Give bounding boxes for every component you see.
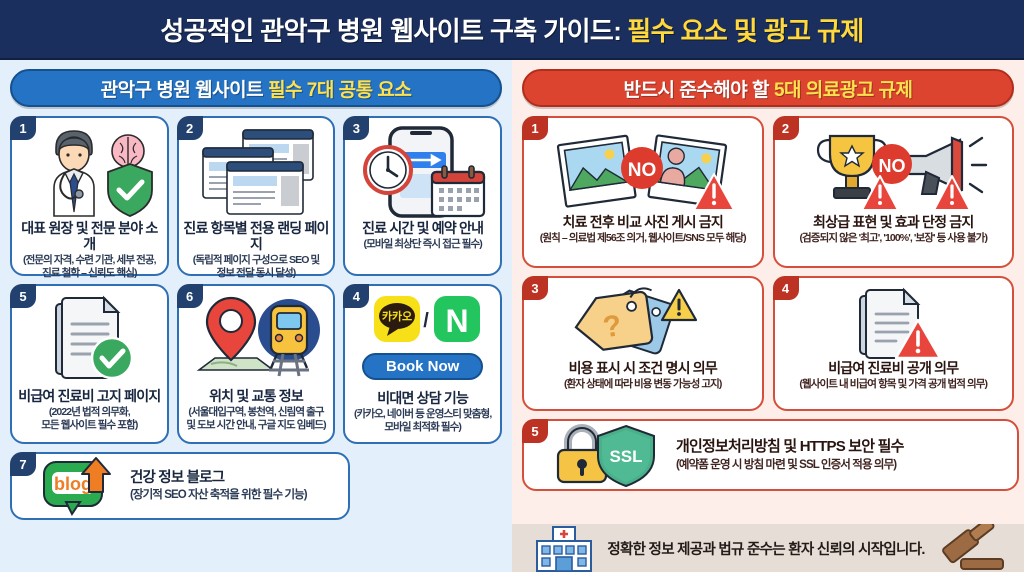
no-badge-label: NO — [628, 160, 657, 181]
ssl-label: SSL — [609, 447, 642, 466]
stacked-browser-windows-icon — [179, 126, 334, 218]
left-card-1-sub: (전문의 자격, 수련 기관, 세부 전공, 진료 철학 – 신뢰도 핵심) — [16, 254, 163, 280]
left-card-4[interactable]: 4 카카오 / N Book Now — [343, 284, 502, 444]
left-card-3-text: 진료 시간 및 예약 안내 (모바일 최상단 즉시 접근 필수) — [358, 220, 487, 257]
right-card-4-text: 비급여 진료비 공개 의무 (웹사이트 내 비급여 항목 및 가격 공개 법적 … — [795, 360, 991, 397]
left-card-2-sub: (독립적 페이지 구성으로 SEO 및 정보 전달 동시 달성) — [183, 254, 330, 280]
left-card-7[interactable]: 7 blog 건강 정보 블로그 (장기적 SEO 자산 축적을 위한 필수 기… — [10, 452, 350, 520]
right-card-3-text: 비용 표시 시 조건 명시 의무 (환자 상태에 따라 비용 변동 가능성 고지… — [560, 360, 725, 397]
right-card-2-sub: (검증되지 않은 '최고', '100%', '보장' 등 사용 불가) — [799, 232, 987, 245]
left-card-1-number: 1 — [10, 116, 36, 140]
content-columns: 관악구 병원 웹사이트 필수 7대 공통 요소 1 — [0, 60, 1024, 572]
price-tag-question-warning-icon: ? — [524, 288, 762, 360]
left-card-5-number: 5 — [10, 284, 36, 308]
doctor-brain-shield-icon — [12, 126, 167, 218]
hospital-building-icon — [529, 525, 597, 571]
right-card-1[interactable]: 1 — [522, 116, 764, 268]
left-card-3-sub: (모바일 최상단 즉시 접근 필수) — [362, 238, 483, 251]
padlock-ssl-shield-icon: SSL — [552, 424, 662, 486]
left-header-white-text: 관악구 병원 웹사이트 — [101, 75, 263, 102]
right-card-5-text: 개인정보처리방침 및 HTTPS 보안 필수 (예약폼 운영 시 방침 마련 및… — [676, 438, 904, 471]
right-card-row-1: 1 — [522, 116, 1014, 268]
page-title-main: 성공적인 관악구 병원 웹사이트 구축 가이드: — [160, 11, 621, 48]
phone-clock-calendar-icon — [345, 126, 500, 218]
left-card-1-text: 대표 원장 및 전문 분야 소개 (전문의 자격, 수련 기관, 세부 전공, … — [12, 220, 167, 286]
gavel-icon — [935, 525, 1007, 571]
blog-label: blog — [54, 474, 92, 494]
right-card-1-title: 치료 전후 비교 사진 게시 금지 — [540, 214, 746, 230]
right-card-1-sub: (원칙 – 의료법 제56조 의거, 웹사이트/SNS 모두 해당) — [540, 232, 746, 245]
svg-text:/: / — [423, 310, 429, 332]
left-header-yellow-text: 필수 7대 공통 요소 — [268, 75, 411, 102]
left-card-3-title: 진료 시간 및 예약 안내 — [362, 220, 483, 236]
left-card-2-title: 진료 항목별 전용 랜딩 페이지 — [183, 220, 330, 252]
right-card-2-text: 최상급 표현 및 효과 단정 금지 (검증되지 않은 '최고', '100%',… — [795, 214, 991, 251]
right-card-4-title: 비급여 진료비 공개 의무 — [799, 360, 987, 376]
blog-speech-bubble-arrow-icon: blog — [42, 456, 118, 516]
footer-text: 정확한 정보 제공과 법규 준수는 환자 신뢰의 시작입니다. — [607, 538, 924, 559]
left-card-4-sub: (카카오, 네이버 등 운영스티 맞춤형, 모바일 최적화 필수) — [354, 408, 491, 434]
left-card-3-number: 3 — [343, 116, 369, 140]
document-warning-icon — [775, 288, 1013, 360]
left-card-2-text: 진료 항목별 전용 랜딩 페이지 (독립적 페이지 구성으로 SEO 및 정보 … — [179, 220, 334, 286]
left-card-5-sub: (2022년 법적 의무화, 모든 웹사이트 필수 포함) — [18, 406, 160, 432]
left-card-1-title: 대표 원장 및 전문 분야 소개 — [16, 220, 163, 252]
right-card-5-sub: (예약폼 운영 시 방침 마련 및 SSL 인증서 적용 의무) — [676, 458, 904, 472]
left-card-7-sub: (장기적 SEO 자산 축적을 위한 필수 기능) — [130, 488, 307, 502]
right-card-3[interactable]: 3 ? — [522, 276, 764, 411]
right-header-white-text: 반드시 준수해야 할 — [624, 75, 769, 102]
document-check-icon — [12, 294, 167, 386]
right-card-2-number: 2 — [773, 116, 799, 140]
right-card-5[interactable]: 5 SSL — [522, 419, 1019, 491]
left-card-6-title: 위치 및 교통 정보 — [186, 388, 325, 404]
page-title-highlight: 필수 요소 및 광고 규제 — [627, 11, 863, 48]
left-card-row-2: 5 — [10, 284, 502, 444]
infographic-page: 성공적인 관악구 병원 웹사이트 구축 가이드: 필수 요소 및 광고 규제 관… — [0, 0, 1024, 572]
right-card-4-sub: (웹사이트 내 비급여 항목 및 가격 공개 법적 의무) — [799, 378, 987, 391]
right-card-4[interactable]: 4 — [773, 276, 1015, 411]
right-card-1-number: 1 — [522, 116, 548, 140]
left-card-5-title: 비급여 진료비 고지 페이지 — [18, 388, 160, 404]
page-title-bar: 성공적인 관악구 병원 웹사이트 구축 가이드: 필수 요소 및 광고 규제 — [0, 0, 1024, 60]
left-card-6-sub: (서울대입구역, 봉천역, 신림역 출구 및 도보 시간 안내, 구글 지도 임… — [186, 406, 325, 432]
left-card-2-number: 2 — [177, 116, 203, 140]
right-card-2-title: 최상급 표현 및 효과 단정 금지 — [799, 214, 987, 230]
left-card-5[interactable]: 5 — [10, 284, 169, 444]
left-card-row-1: 1 — [10, 116, 502, 276]
right-card-3-sub: (환자 상태에 따라 비용 변동 가능성 고지) — [564, 378, 721, 391]
left-card-2[interactable]: 2 — [177, 116, 336, 276]
left-card-6-text: 위치 및 교통 정보 (서울대입구역, 봉천역, 신림역 출구 및 도보 시간 … — [182, 388, 329, 438]
left-panel-header: 관악구 병원 웹사이트 필수 7대 공통 요소 — [10, 69, 502, 107]
left-card-7-number: 7 — [10, 452, 36, 476]
before-after-photos-no-icon: NO — [524, 128, 762, 214]
left-card-7-title: 건강 정보 블로그 — [130, 470, 307, 487]
map-pin-subway-icon — [179, 294, 334, 386]
right-panel-header: 반드시 준수해야 할 5대 의료광고 규제 — [522, 69, 1014, 107]
left-card-4-text: 비대면 상담 기능 (카카오, 네이버 등 운영스티 맞춤형, 모바일 최적화 … — [350, 390, 495, 440]
left-card-5-text: 비급여 진료비 고지 페이지 (2022년 법적 의무화, 모든 웹사이트 필수… — [14, 388, 164, 438]
kakao-naver-booknow-icon: 카카오 / N Book Now — [345, 294, 500, 394]
right-panel: 반드시 준수해야 할 5대 의료광고 규제 1 — [512, 60, 1024, 572]
right-card-2[interactable]: 2 — [773, 116, 1015, 268]
left-card-1[interactable]: 1 — [10, 116, 169, 276]
right-card-row-2: 3 ? — [522, 276, 1014, 411]
right-card-5-number: 5 — [522, 419, 548, 443]
book-now-button[interactable]: Book Now — [362, 353, 483, 380]
right-card-1-text: 치료 전후 비교 사진 게시 금지 (원칙 – 의료법 제56조 의거, 웹사이… — [536, 214, 750, 251]
right-header-yellow-text: 5대 의료광고 규제 — [774, 75, 913, 102]
footer-bar: 정확한 정보 제공과 법규 준수는 환자 신뢰의 시작입니다. — [512, 524, 1024, 572]
right-card-3-number: 3 — [522, 276, 548, 300]
left-card-4-number: 4 — [343, 284, 369, 308]
left-card-6-number: 6 — [177, 284, 203, 308]
left-card-7-text: 건강 정보 블로그 (장기적 SEO 자산 축적을 위한 필수 기능) — [130, 470, 307, 503]
left-panel: 관악구 병원 웹사이트 필수 7대 공통 요소 1 — [0, 60, 512, 572]
right-card-3-title: 비용 표시 시 조건 명시 의무 — [564, 360, 721, 376]
right-card-4-number: 4 — [773, 276, 799, 300]
right-card-5-title: 개인정보처리방침 및 HTTPS 보안 필수 — [676, 438, 904, 455]
naver-label: N — [445, 303, 468, 339]
left-card-6[interactable]: 6 — [177, 284, 336, 444]
kakao-label: 카카오 — [381, 309, 411, 323]
trophy-megaphone-no-icon: NO — [775, 128, 1013, 214]
no-badge-label: NO — [879, 156, 906, 176]
left-card-3[interactable]: 3 — [343, 116, 502, 276]
